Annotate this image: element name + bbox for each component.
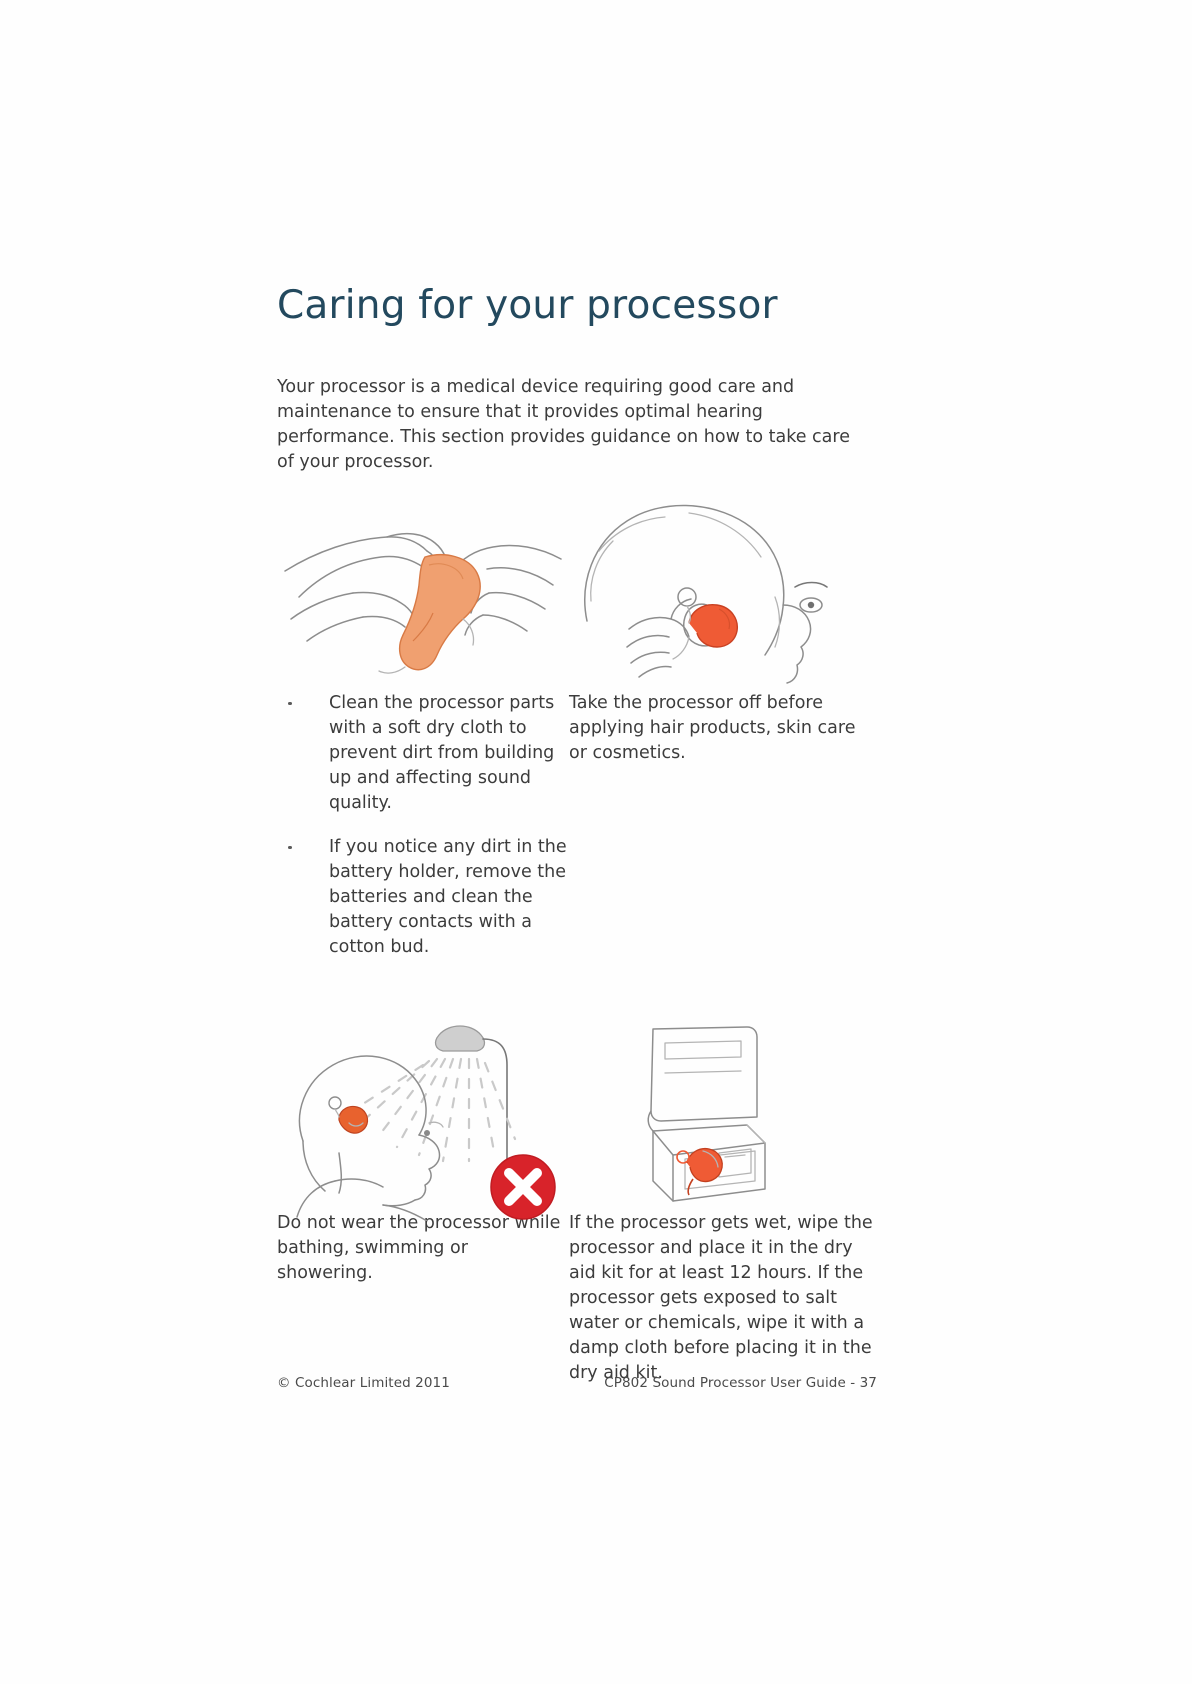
bullet-dot-icon — [288, 702, 292, 706]
illustration-row-1: Clean the processor parts with a soft dr… — [277, 501, 877, 979]
caption-dry-aid-kit: If the processor gets wet, wipe the proc… — [569, 1211, 877, 1386]
footer-copyright: © Cochlear Limited 2011 — [277, 1375, 450, 1391]
page-footer: © Cochlear Limited 2011 CP802 Sound Proc… — [277, 1375, 877, 1391]
row-spacer — [277, 979, 877, 1021]
cleaning-processor-with-cloth-illustration — [277, 501, 569, 691]
page-content: Caring for your processor Your processor… — [277, 286, 877, 1386]
bullet-dot-icon — [288, 846, 292, 850]
intro-paragraph: Your processor is a medical device requi… — [277, 375, 862, 475]
page-title: Caring for your processor — [277, 286, 877, 327]
no-shower-with-processor-illustration — [277, 1021, 569, 1211]
dry-aid-kit-illustration — [569, 1021, 877, 1211]
footer-guide-reference: CP802 Sound Processor User Guide - 37 — [604, 1375, 877, 1391]
figure-cell-remove-processor: Take the processor off before applying h… — [569, 501, 877, 979]
figure-cell-dry-aid-kit: If the processor gets wet, wipe the proc… — [569, 1021, 877, 1386]
figure-cell-cleaning: Clean the processor parts with a soft dr… — [277, 501, 569, 979]
list-item: If you notice any dirt in the battery ho… — [277, 835, 569, 960]
figure-cell-no-shower: Do not wear the processor while bathing,… — [277, 1021, 569, 1386]
list-item-text: If you notice any dirt in the battery ho… — [329, 837, 567, 957]
list-item: Clean the processor parts with a soft dr… — [277, 691, 569, 816]
document-page: Caring for your processor Your processor… — [0, 0, 1192, 1684]
removing-processor-from-ear-illustration — [569, 501, 877, 691]
illustration-row-2: Do not wear the processor while bathing,… — [277, 1021, 877, 1386]
caption-remove-processor: Take the processor off before applying h… — [569, 691, 877, 766]
list-item-text: Clean the processor parts with a soft dr… — [329, 693, 554, 813]
caption-no-shower: Do not wear the processor while bathing,… — [277, 1211, 569, 1286]
cleaning-bullet-list: Clean the processor parts with a soft dr… — [277, 691, 569, 960]
